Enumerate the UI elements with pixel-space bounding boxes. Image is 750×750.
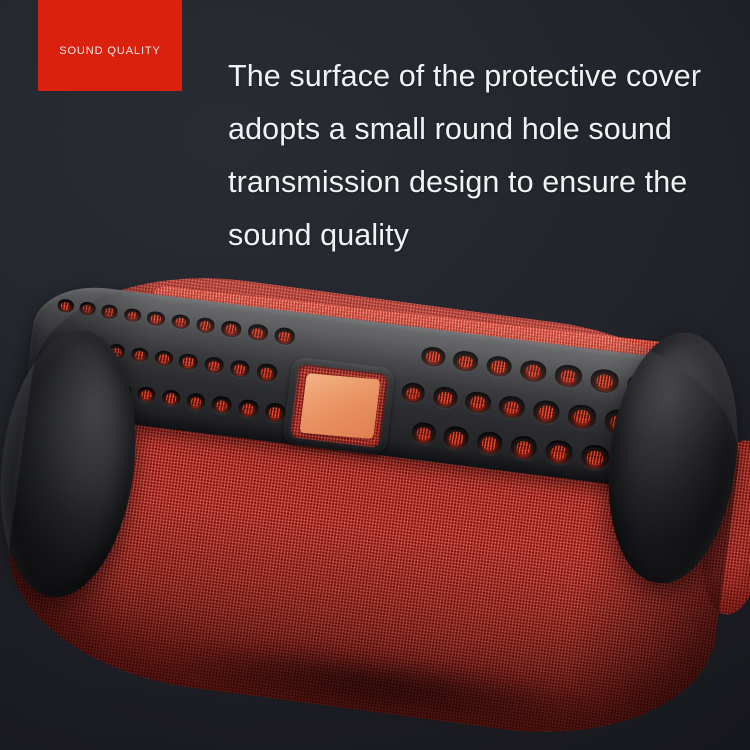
- perforation-hole: [161, 389, 181, 407]
- perforation-hole: [264, 402, 287, 423]
- perforation-hole: [171, 313, 191, 330]
- perforation-hole: [432, 386, 459, 410]
- perforation-hole: [509, 434, 538, 461]
- badge-label: SOUND QUALITY: [59, 45, 161, 57]
- perforation-hole: [256, 363, 278, 383]
- perforation-hole: [443, 426, 470, 451]
- perforation-hole: [452, 350, 479, 373]
- perforation-hole: [123, 307, 142, 323]
- perforation-hole: [519, 359, 548, 383]
- perforation-hole: [130, 346, 149, 363]
- perforation-hole: [411, 421, 438, 445]
- perforation-hole: [532, 399, 561, 425]
- perforation-hole: [203, 356, 224, 374]
- perforation-hole: [211, 395, 232, 415]
- perforation-hole: [567, 404, 597, 431]
- perforation-hole: [101, 304, 119, 319]
- perforation-hole: [79, 301, 96, 316]
- perforation-hole: [420, 346, 446, 368]
- perforation-hole: [580, 444, 611, 472]
- perforation-hole: [147, 310, 166, 326]
- headline-line-1: The surface of the protective cover: [228, 50, 740, 103]
- perforation-hole: [57, 299, 74, 313]
- perforation-hole: [221, 320, 242, 338]
- perforation-hole: [274, 327, 296, 346]
- perforation-hole: [554, 364, 584, 389]
- window-mesh-backing: [290, 364, 388, 448]
- perforation-hole: [195, 317, 215, 334]
- perforation-hole: [229, 359, 251, 378]
- perforation-hole: [178, 353, 198, 371]
- perforation-hole: [247, 323, 269, 341]
- perforation-grid: [39, 280, 724, 365]
- perforation-hole: [186, 392, 207, 411]
- orange-reflector-chip: [299, 373, 380, 439]
- headline-line-3: transmission design to ensure the: [228, 156, 740, 209]
- perforation-hole: [400, 382, 426, 405]
- perforation-hole: [137, 386, 156, 404]
- center-window-bezel: [282, 356, 396, 456]
- perforation-hole: [475, 430, 503, 456]
- sound-quality-badge: SOUND QUALITY: [38, 0, 182, 91]
- perforation-hole: [464, 390, 492, 414]
- perforation-hole: [544, 439, 574, 467]
- perforation-hole: [237, 399, 259, 419]
- perforation-hole: [485, 355, 513, 378]
- headline-line-4: sound quality: [228, 209, 740, 262]
- headline-text: The surface of the protective cover adop…: [228, 50, 740, 262]
- perforation-hole: [154, 350, 174, 367]
- marketing-banner: SOUND QUALITY The surface of the protect…: [0, 0, 750, 750]
- perforation-hole: [497, 395, 525, 420]
- perforation-hole: [590, 368, 621, 394]
- headline-line-2: adopts a small round hole sound: [228, 103, 740, 156]
